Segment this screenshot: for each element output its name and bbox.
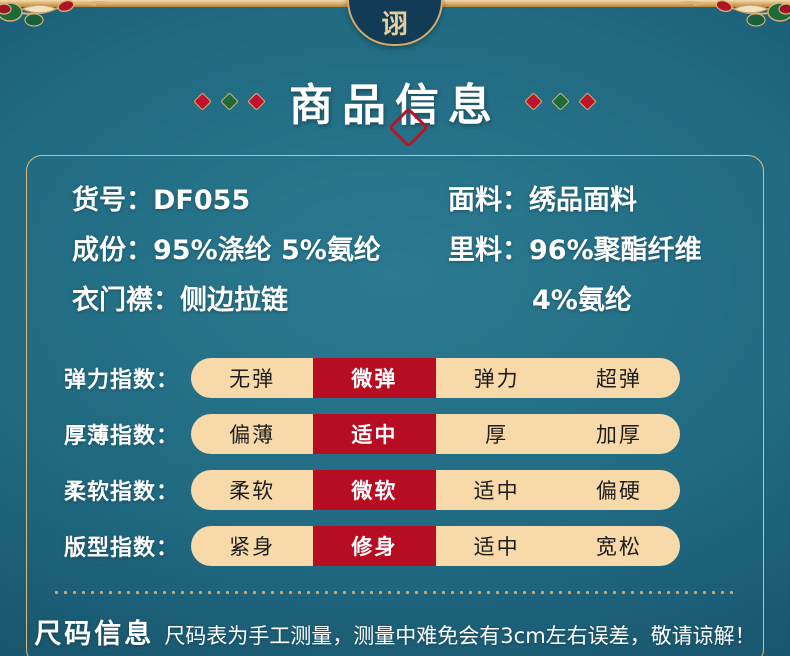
index-option-selected[interactable]: 微软 <box>313 470 435 510</box>
diamond-ornaments-right <box>527 95 594 108</box>
corner-ornament-right <box>670 0 790 34</box>
index-scale-softness[interactable]: 柔软 微软 适中 偏硬 <box>191 470 680 510</box>
index-option-selected[interactable]: 修身 <box>313 526 435 566</box>
size-info-title: 尺码信息 <box>34 612 154 651</box>
diamond-icon <box>220 92 238 110</box>
index-label-elasticity: 弹力指数： <box>26 362 191 394</box>
index-option[interactable]: 紧身 <box>191 526 313 566</box>
dotted-divider <box>52 589 738 596</box>
spec-line-article-number: 货号：DF055 <box>72 176 424 226</box>
index-option[interactable]: 偏硬 <box>558 470 680 510</box>
index-option-selected[interactable]: 适中 <box>313 414 435 454</box>
index-option[interactable]: 适中 <box>436 526 558 566</box>
index-option[interactable]: 弹力 <box>436 358 558 398</box>
index-option[interactable]: 超弹 <box>558 358 680 398</box>
spec-line-lining-cont: 4%氨纶 <box>448 276 764 326</box>
index-row-softness: 柔软指数： 柔软 微软 适中 偏硬 <box>26 462 764 518</box>
shield-badge-label: 诩 <box>381 12 408 44</box>
spec-line-fabric: 面料：绣品面料 <box>448 176 764 226</box>
diamond-ornaments-left <box>196 95 263 108</box>
diamond-icon <box>193 92 211 110</box>
specifications-block: 货号：DF055 成份：95%涤纶 5%氨纶 衣门襟：侧边拉链 面料：绣品面料 … <box>26 176 764 326</box>
index-option[interactable]: 柔软 <box>191 470 313 510</box>
index-option-selected[interactable]: 微弹 <box>313 358 435 398</box>
specs-column-left: 货号：DF055 成份：95%涤纶 5%氨纶 衣门襟：侧边拉链 <box>26 176 424 326</box>
spec-line-lining: 里料：96%聚酯纤维 <box>448 226 764 276</box>
index-option[interactable]: 适中 <box>436 470 558 510</box>
diamond-icon <box>247 92 265 110</box>
index-option[interactable]: 无弹 <box>191 358 313 398</box>
index-row-elasticity: 弹力指数： 无弹 微弹 弹力 超弹 <box>26 350 764 406</box>
specs-column-right: 面料：绣品面料 里料：96%聚酯纤维 4%氨纶 <box>424 176 764 326</box>
index-option[interactable]: 厚 <box>436 414 558 454</box>
diamond-icon <box>578 92 596 110</box>
index-scale-fit[interactable]: 紧身 修身 适中 宽松 <box>191 526 680 566</box>
corner-ornament-left <box>0 0 120 34</box>
index-label-fit: 版型指数： <box>26 530 191 562</box>
index-row-fit: 版型指数： 紧身 修身 适中 宽松 <box>26 518 764 574</box>
spec-line-placket: 衣门襟：侧边拉链 <box>72 276 424 326</box>
spec-line-composition: 成份：95%涤纶 5%氨纶 <box>72 226 424 276</box>
index-scale-thickness[interactable]: 偏薄 适中 厚 加厚 <box>191 414 680 454</box>
index-scale-elasticity[interactable]: 无弹 微弹 弹力 超弹 <box>191 358 680 398</box>
index-row-thickness: 厚薄指数： 偏薄 适中 厚 加厚 <box>26 406 764 462</box>
index-option[interactable]: 宽松 <box>558 526 680 566</box>
index-option[interactable]: 偏薄 <box>191 414 313 454</box>
size-info-footer: 尺码信息 尺码表为手工测量，测量中难免会有3cm左右误差，敬请谅解！ <box>0 612 790 651</box>
size-info-note: 尺码表为手工测量，测量中难免会有3cm左右误差，敬请谅解！ <box>164 620 755 650</box>
diamond-icon <box>551 92 569 110</box>
index-label-softness: 柔软指数： <box>26 474 191 506</box>
index-option[interactable]: 加厚 <box>558 414 680 454</box>
index-rows: 弹力指数： 无弹 微弹 弹力 超弹 厚薄指数： 偏薄 适中 厚 加厚 柔软指数：… <box>26 350 764 574</box>
index-label-thickness: 厚薄指数： <box>26 418 191 450</box>
shield-badge: 诩 <box>347 0 443 46</box>
diamond-icon <box>524 92 542 110</box>
product-info-banner: 诩 商品信息 货号：DF055 成份：95%涤纶 5%氨纶 衣门襟：侧边拉链 面… <box>0 0 790 656</box>
